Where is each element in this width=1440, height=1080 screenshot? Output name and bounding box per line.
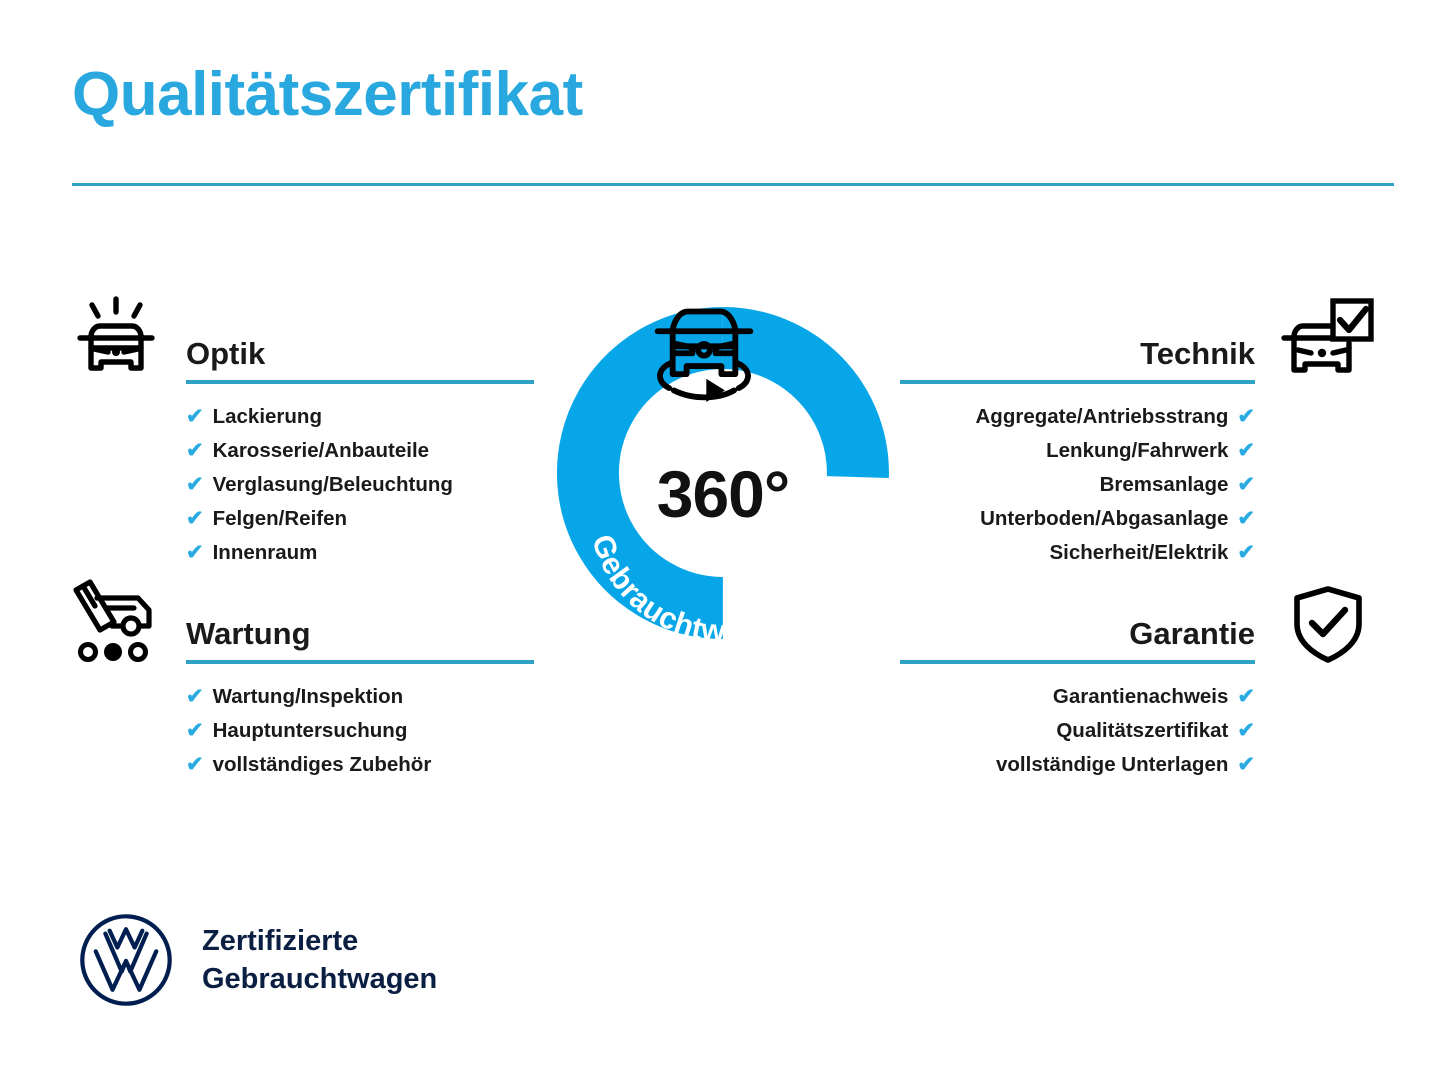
list-item: Unterboden/Abgasanlage ✔: [900, 502, 1255, 536]
check-icon: ✔: [1237, 400, 1255, 434]
list-item-label: Wartung/Inspektion: [213, 680, 404, 714]
section-divider-technik: [900, 380, 1255, 384]
section-header-garantie: Garantie: [900, 614, 1255, 662]
check-icon: ✔: [1237, 714, 1255, 748]
section-title-wartung: Wartung: [186, 614, 534, 654]
list-item-label: Innenraum: [213, 536, 318, 570]
check-icon: ✔: [186, 536, 204, 570]
section-technik: Technik Aggregate/Antriebsstrang ✔ Lenku…: [900, 334, 1255, 586]
list-item-label: Felgen/Reifen: [213, 502, 347, 536]
360-badge: Gebrauchtwagen-Check 360°: [528, 278, 918, 698]
check-icon: ✔: [186, 400, 204, 434]
section-divider-optik: [186, 380, 534, 384]
section-title-garantie: Garantie: [900, 614, 1255, 654]
section-garantie: Garantie Garantienachweis ✔ Qualitätszer…: [900, 614, 1255, 798]
list-item-label: vollständiges Zubehör: [213, 748, 432, 782]
check-icon: ✔: [186, 680, 204, 714]
vw-roundel-logo: [78, 912, 174, 1008]
car-front-shine-icon: [68, 296, 164, 386]
list-item-label: Garantienachweis: [1053, 680, 1228, 714]
list-item-label: Unterboden/Abgasanlage: [980, 502, 1228, 536]
badge-center-value: 360°: [528, 456, 918, 532]
list-item-label: Bremsanlage: [1100, 468, 1229, 502]
list-item-label: Karosserie/Anbauteile: [213, 434, 429, 468]
section-header-wartung: Wartung: [186, 614, 534, 662]
shield-check-icon: [1288, 584, 1368, 664]
section-header-optik: Optik: [186, 334, 534, 382]
list-item: ✔ Karosserie/Anbauteile: [186, 434, 534, 468]
list-item: ✔ Lackierung: [186, 400, 534, 434]
list-item-label: Hauptuntersuchung: [213, 714, 408, 748]
car-front-checkbox-icon: [1278, 296, 1374, 386]
list-item: ✔ Felgen/Reifen: [186, 502, 534, 536]
section-title-optik: Optik: [186, 334, 534, 374]
footer-line-1: Zertifizierte: [202, 922, 437, 960]
check-icon: ✔: [186, 434, 204, 468]
check-icon: ✔: [1237, 434, 1255, 468]
check-icon: ✔: [1237, 502, 1255, 536]
check-icon: ✔: [1237, 536, 1255, 570]
checklist-garantie: Garantienachweis ✔ Qualitätszertifikat ✔…: [900, 680, 1255, 782]
list-item: Sicherheit/Elektrik ✔: [900, 536, 1255, 570]
section-optik: Optik ✔ Lackierung ✔ Karosserie/Anbautei…: [186, 334, 534, 586]
list-item: ✔ Hauptuntersuchung: [186, 714, 534, 748]
section-divider-garantie: [900, 660, 1255, 664]
list-item: Qualitätszertifikat ✔: [900, 714, 1255, 748]
section-title-technik: Technik: [900, 334, 1255, 374]
checklist-optik: ✔ Lackierung ✔ Karosserie/Anbauteile ✔ V…: [186, 400, 534, 570]
list-item: Aggregate/Antriebsstrang ✔: [900, 400, 1255, 434]
header-divider: [72, 183, 1394, 186]
service-pencil-car-icon: [66, 578, 162, 668]
page-title: Qualitätszertifikat: [72, 62, 583, 127]
list-item: ✔ Innenraum: [186, 536, 534, 570]
list-item-label: Aggregate/Antriebsstrang: [976, 400, 1229, 434]
list-item: Bremsanlage ✔: [900, 468, 1255, 502]
section-wartung: Wartung ✔ Wartung/Inspektion ✔ Hauptunte…: [186, 614, 534, 798]
section-divider-wartung: [186, 660, 534, 664]
list-item-label: Sicherheit/Elektrik: [1050, 536, 1229, 570]
footer-brand: Zertifizierte Gebrauchtwagen: [78, 912, 437, 1008]
footer-line-2: Gebrauchtwagen: [202, 960, 437, 998]
check-icon: ✔: [186, 748, 204, 782]
list-item: ✔ vollständiges Zubehör: [186, 748, 534, 782]
section-header-technik: Technik: [900, 334, 1255, 382]
list-item-label: Lenkung/Fahrwerk: [1046, 434, 1228, 468]
list-item: Garantienachweis ✔: [900, 680, 1255, 714]
checklist-wartung: ✔ Wartung/Inspektion ✔ Hauptuntersuchung…: [186, 680, 534, 782]
list-item-label: vollständige Unterlagen: [996, 748, 1228, 782]
check-icon: ✔: [186, 502, 204, 536]
checklist-technik: Aggregate/Antriebsstrang ✔ Lenkung/Fahrw…: [900, 400, 1255, 570]
check-icon: ✔: [186, 714, 204, 748]
list-item-label: Lackierung: [213, 400, 322, 434]
list-item-label: Qualitätszertifikat: [1056, 714, 1228, 748]
list-item: ✔ Verglasung/Beleuchtung: [186, 468, 534, 502]
list-item-label: Verglasung/Beleuchtung: [213, 468, 453, 502]
check-icon: ✔: [1237, 468, 1255, 502]
list-item: Lenkung/Fahrwerk ✔: [900, 434, 1255, 468]
list-item: vollständige Unterlagen ✔: [900, 748, 1255, 782]
check-icon: ✔: [1237, 680, 1255, 714]
list-item: ✔ Wartung/Inspektion: [186, 680, 534, 714]
check-icon: ✔: [186, 468, 204, 502]
check-icon: ✔: [1237, 748, 1255, 782]
